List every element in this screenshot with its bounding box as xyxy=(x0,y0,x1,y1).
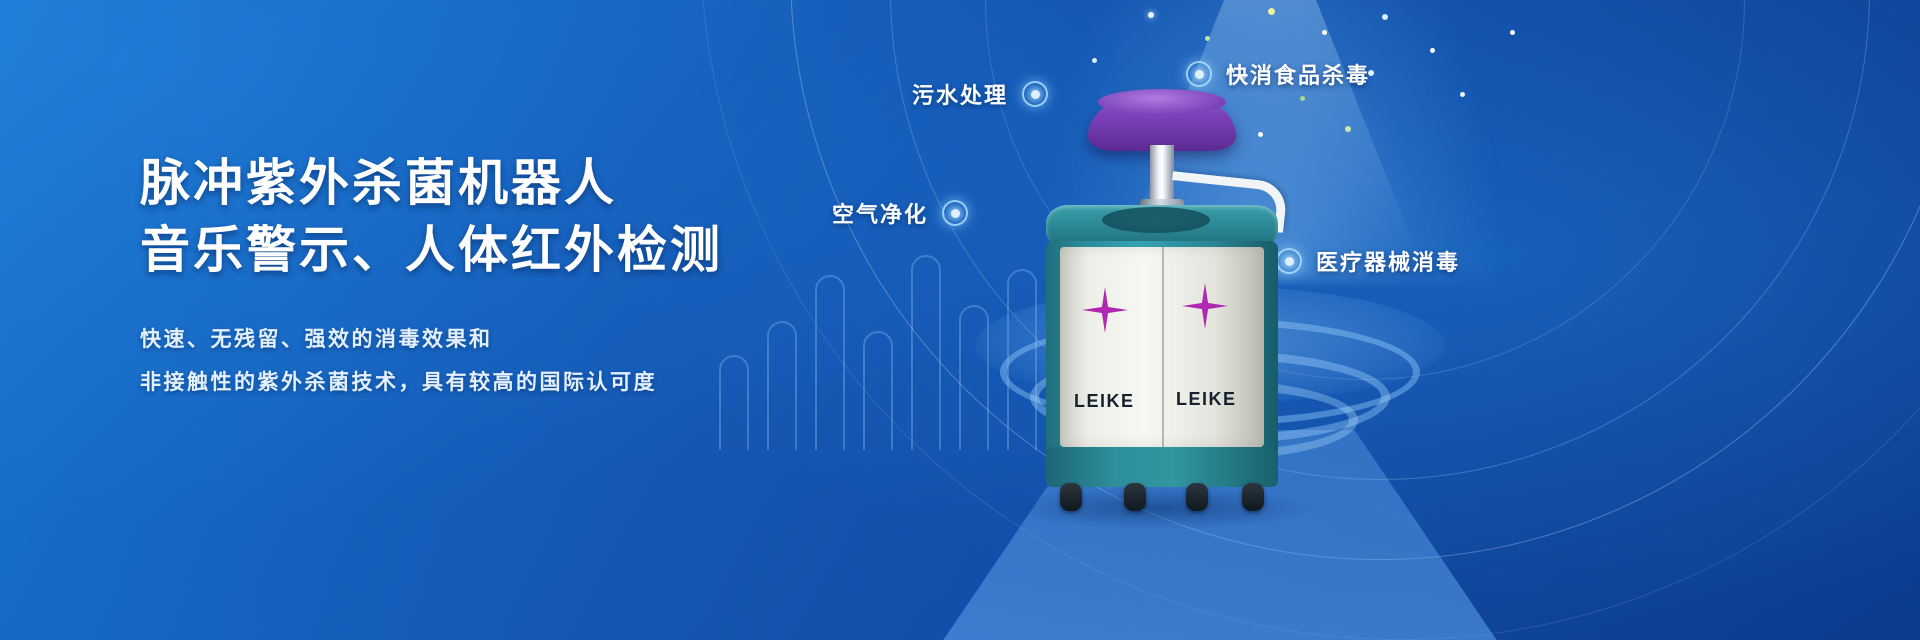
uv-lamp-top xyxy=(1098,89,1226,115)
node-marker-icon xyxy=(942,200,968,226)
caster-wheel xyxy=(1242,483,1264,511)
callout-label: 污水处理 xyxy=(912,78,1008,110)
particle-dot xyxy=(1092,58,1097,63)
subtitle-block: 快速、无残留、强效的消毒效果和 非接触性的紫外杀菌技术，具有较高的国际认可度 xyxy=(140,318,880,404)
callout-air-purification: 空气净化 xyxy=(832,197,968,229)
caster-wheel xyxy=(1060,483,1082,511)
headline-line-2: 音乐警示、人体红外检测 xyxy=(140,217,880,284)
panel-seam xyxy=(1162,247,1164,447)
node-marker-icon xyxy=(1186,61,1212,87)
caster-wheel xyxy=(1124,483,1146,511)
brand-label-right: LEIKE xyxy=(1176,389,1237,410)
callout-medical-device: 医疗器械消毒 xyxy=(1276,245,1460,277)
particle-dot xyxy=(1345,126,1351,132)
four-point-star-icon xyxy=(1182,283,1228,329)
caster-wheel xyxy=(1186,483,1208,511)
uv-robot-product: LEIKE LEIKE xyxy=(1020,95,1300,515)
particle-dot xyxy=(1268,8,1275,15)
particle-dot xyxy=(1382,14,1388,20)
subtitle-line-1: 快速、无残留、强效的消毒效果和 xyxy=(140,318,880,361)
four-point-star-icon xyxy=(1082,287,1128,333)
particle-dot xyxy=(1460,92,1465,97)
particle-dot xyxy=(1148,12,1154,18)
callout-fast-food-steril: 快消食品杀毒 xyxy=(1186,58,1370,90)
particle-dot xyxy=(1510,30,1515,35)
callout-label: 空气净化 xyxy=(832,197,928,229)
particle-dot xyxy=(1205,36,1210,41)
banner-copy: 脉冲紫外杀菌机器人 音乐警示、人体红外检测 快速、无残留、强效的消毒效果和 非接… xyxy=(140,150,880,404)
particle-dot xyxy=(1430,48,1435,53)
callout-label: 医疗器械消毒 xyxy=(1316,245,1460,277)
particle-dot xyxy=(1300,96,1305,101)
robot-top-well xyxy=(1102,207,1210,233)
headline-line-1: 脉冲紫外杀菌机器人 xyxy=(140,150,880,217)
subtitle-line-2: 非接触性的紫外杀菌技术，具有较高的国际认可度 xyxy=(140,361,880,404)
callout-label: 快消食品杀毒 xyxy=(1226,58,1370,90)
robot-base xyxy=(1046,447,1278,487)
particle-dot xyxy=(1322,30,1327,35)
promo-banner: 脉冲紫外杀菌机器人 音乐警示、人体红外检测 快速、无残留、强效的消毒效果和 非接… xyxy=(0,0,1920,640)
brand-label-left: LEIKE xyxy=(1074,391,1135,412)
